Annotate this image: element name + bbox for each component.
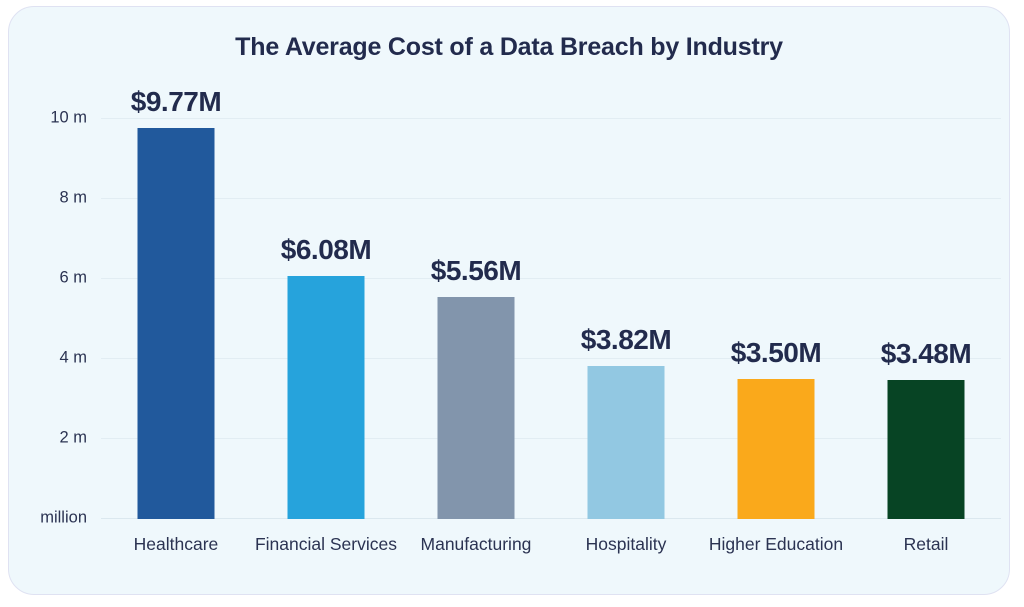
y-axis-tick-label: 10 m bbox=[50, 109, 87, 128]
bar[interactable] bbox=[287, 276, 364, 519]
bar-value-label: $6.08M bbox=[281, 234, 371, 266]
bar-value-label: $9.77M bbox=[131, 86, 221, 118]
bar-value-label: $5.56M bbox=[431, 255, 521, 287]
x-axis-category-label: Financial Services bbox=[238, 533, 413, 556]
bar-value-label: $3.48M bbox=[881, 338, 971, 370]
x-axis-category-label: Manufacturing bbox=[388, 533, 563, 556]
x-axis-category-label: Higher Education bbox=[688, 533, 863, 556]
bar[interactable] bbox=[737, 379, 814, 519]
bar-group: $3.82MHospitality bbox=[551, 91, 701, 519]
chart-title: The Average Cost of a Data Breach by Ind… bbox=[9, 33, 1009, 62]
x-axis-category-label: Retail bbox=[838, 533, 1010, 556]
bar-group: $9.77MHealthcare bbox=[101, 91, 251, 519]
bar-group: $6.08MFinancial Services bbox=[251, 91, 401, 519]
bar-series: $9.77MHealthcare$6.08MFinancial Services… bbox=[101, 91, 1001, 519]
chart-card: The Average Cost of a Data Breach by Ind… bbox=[8, 6, 1010, 595]
bar[interactable] bbox=[887, 380, 964, 519]
bar[interactable] bbox=[437, 297, 514, 519]
y-axis-tick-label: 4 m bbox=[59, 349, 87, 368]
bar-value-label: $3.50M bbox=[731, 337, 821, 369]
y-axis-tick-label: 2 m bbox=[59, 429, 87, 448]
bar[interactable] bbox=[587, 366, 664, 519]
x-axis-category-label: Hospitality bbox=[538, 533, 713, 556]
plot-area: million2 m4 m6 m8 m10 m $9.77MHealthcare… bbox=[101, 91, 1001, 519]
x-axis-category-label: Healthcare bbox=[88, 533, 263, 556]
bar-value-label: $3.82M bbox=[581, 324, 671, 356]
bar-group: $5.56MManufacturing bbox=[401, 91, 551, 519]
y-axis-tick-label: million bbox=[40, 509, 87, 528]
y-axis-tick-label: 8 m bbox=[59, 189, 87, 208]
bar-group: $3.50MHigher Education bbox=[701, 91, 851, 519]
bar[interactable] bbox=[137, 128, 214, 519]
bar-group: $3.48MRetail bbox=[851, 91, 1001, 519]
y-axis-tick-label: 6 m bbox=[59, 269, 87, 288]
